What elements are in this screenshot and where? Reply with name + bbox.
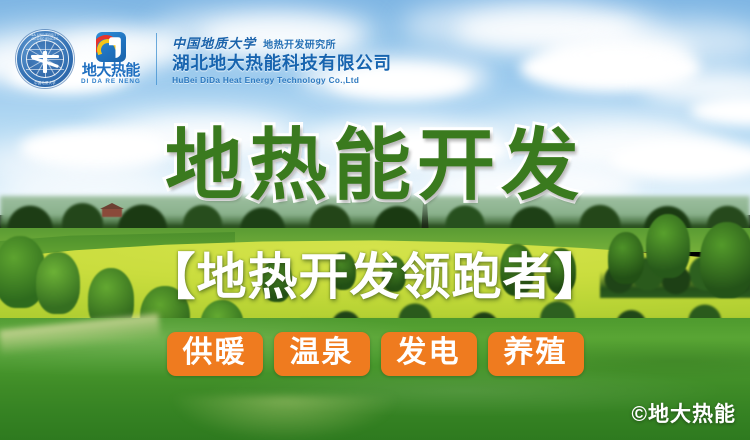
service-tag[interactable]: 温泉 [274,332,370,376]
meadow-track [170,396,400,440]
red-barn [102,208,122,217]
service-tag-list: 供暖 温泉 发电 养殖 [0,332,750,376]
page-title: 地热能开发 [0,126,750,204]
service-tag[interactable]: 供暖 [167,332,263,376]
service-tag[interactable]: 发电 [381,332,477,376]
page-subtitle: 【地热开发领跑者】 [0,252,750,302]
service-tag[interactable]: 养殖 [488,332,584,376]
copyright-notice: ©地大热能 [632,398,736,428]
geothermal-banner: CHINA UNIVERSITY OF GEOSCIENCES 中国地质大学 地… [0,0,750,440]
